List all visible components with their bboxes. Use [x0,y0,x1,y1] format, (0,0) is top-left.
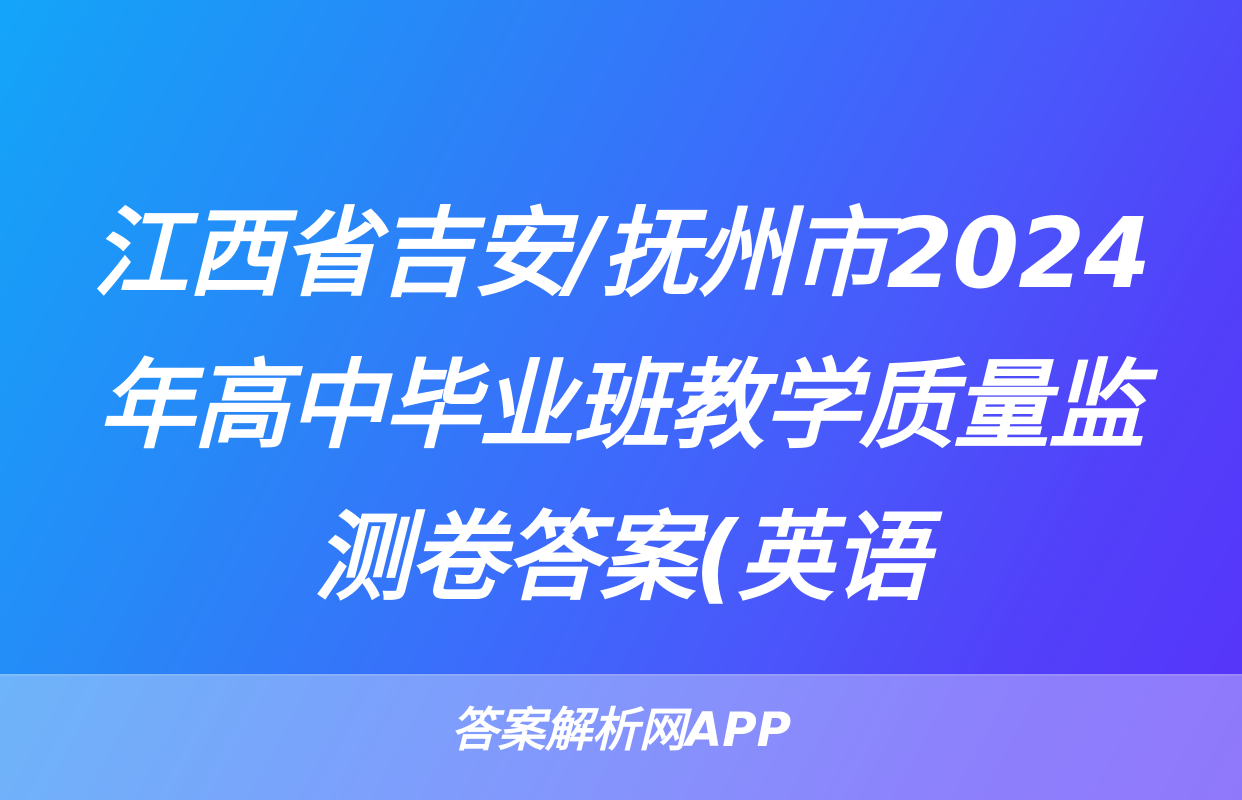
title-line-2: 年高中毕业班教学质量监 [34,330,1208,482]
title-line-1: 江西省吉安/抚州市2024 [34,178,1208,330]
band-divider [0,674,1242,676]
title-line-3: 测卷答案(英语 [34,482,1208,634]
poster-canvas: 江西省吉安/抚州市2024 年高中毕业班教学质量监 测卷答案(英语 答案解析网A… [0,0,1242,800]
app-watermark: 答案解析网APP [0,702,1242,760]
poster-title: 江西省吉安/抚州市2024 年高中毕业班教学质量监 测卷答案(英语 [0,178,1242,634]
